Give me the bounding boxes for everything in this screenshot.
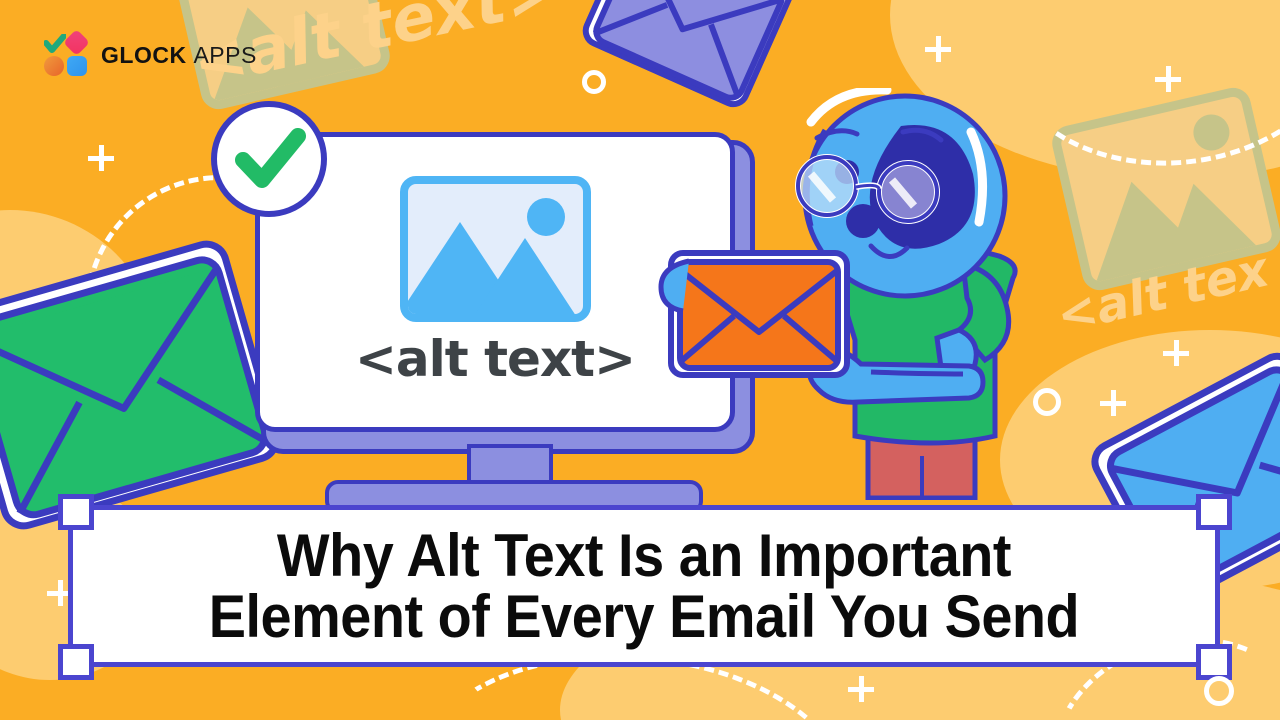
plus-mark-top: [925, 36, 951, 62]
title-card[interactable]: Why Alt Text Is an Important Element of …: [68, 505, 1220, 667]
square-blue-icon: [67, 56, 87, 76]
image-icon-sun: [527, 198, 565, 236]
envelope-purple-top: [577, 0, 798, 113]
envelope-purple-icon: [577, 0, 798, 113]
envelope-orange-icon: [668, 250, 850, 378]
plus-mark-right: [1100, 390, 1126, 416]
envelope-orange-held: [668, 250, 850, 378]
plus-mark-top-right: [1155, 66, 1181, 92]
circle-orange-icon: [44, 56, 64, 76]
image-icon-peak-right: [470, 238, 580, 322]
plus-mark-left: [88, 145, 114, 171]
brand-name-light: APPS: [193, 42, 256, 68]
poster-canvas: <alt text> <alt tex: [0, 0, 1280, 720]
alt-text-label: <alt text>: [355, 330, 635, 388]
character-thumb: [655, 255, 695, 315]
selection-handle-top-left[interactable]: [58, 494, 94, 530]
page-title: Why Alt Text Is an Important Element of …: [209, 525, 1079, 647]
title-line-1: Why Alt Text Is an Important: [209, 525, 1079, 586]
diamond-pink-icon: [63, 29, 90, 56]
image-placeholder-icon: [400, 176, 591, 322]
monitor-screen: <alt text>: [278, 153, 712, 411]
plus-mark-right-upper: [1163, 340, 1189, 366]
ring-right: [1033, 388, 1061, 416]
selection-handle-bottom-right[interactable]: [1196, 644, 1232, 680]
check-green-icon: [44, 34, 66, 54]
selection-handle-bottom-left[interactable]: [58, 644, 94, 680]
brand-name: GLOCK APPS: [101, 44, 257, 67]
check-circle-icon: [210, 100, 328, 218]
rotation-handle[interactable]: [1204, 676, 1234, 706]
brand-name-bold: GLOCK: [101, 42, 187, 68]
plus-mark-bottom: [848, 676, 874, 702]
glockapps-logo-mark: [44, 34, 88, 76]
brand-logo[interactable]: GLOCK APPS: [44, 34, 257, 76]
ring-top: [582, 70, 606, 94]
selection-handle-top-right[interactable]: [1196, 494, 1232, 530]
title-line-2: Element of Every Email You Send: [209, 586, 1079, 647]
